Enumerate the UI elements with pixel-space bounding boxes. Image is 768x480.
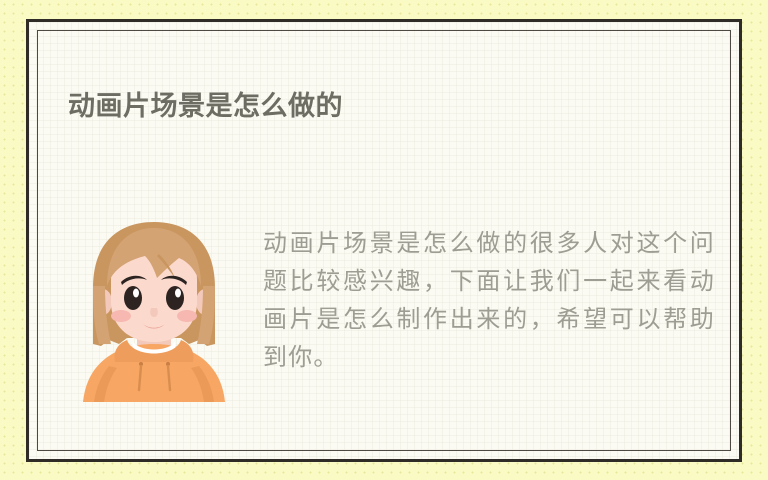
avatar-illustration — [71, 216, 237, 402]
avatar — [71, 216, 237, 402]
article-body-text: 动画片场景是怎么做的很多人对这个问题比较感兴趣，下面让我们一起来看动画片是怎么制… — [263, 224, 715, 376]
content-row: 动画片场景是怎么做的很多人对这个问题比较感兴趣，下面让我们一起来看动画片是怎么制… — [29, 22, 739, 459]
eye-highlight-right — [175, 289, 181, 298]
eye-highlight-left — [133, 289, 139, 298]
blush-right — [177, 310, 197, 322]
article-frame: 动画片场景是怎么做的 — [26, 19, 742, 462]
page-canvas: 动画片场景是怎么做的 — [0, 0, 768, 480]
nose — [150, 308, 158, 317]
eye-left — [124, 286, 142, 310]
blush-left — [111, 310, 131, 322]
eye-right — [166, 286, 184, 310]
